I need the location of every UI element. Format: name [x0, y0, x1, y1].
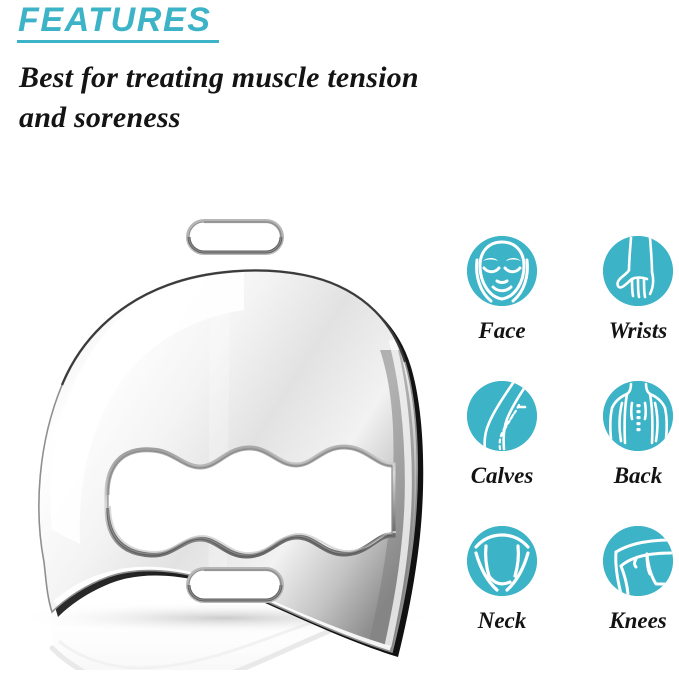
back-icon-wrap — [582, 380, 679, 452]
calf-icon-wrap — [446, 380, 558, 452]
knee-icon-wrap — [582, 525, 679, 597]
icon-cell-knees: Knees — [582, 525, 679, 665]
icon-cell-neck: Neck — [446, 525, 558, 665]
face-icon — [467, 236, 537, 306]
title-underline-divider — [17, 40, 219, 43]
page-title: FEATURES — [18, 1, 212, 39]
subtitle-line-2: and soreness — [19, 98, 559, 138]
features-infographic: FEATURES Best for treating muscle tensio… — [0, 0, 679, 688]
back-icon — [603, 381, 673, 451]
icon-cell-back: Back — [582, 380, 679, 520]
face-icon-wrap — [446, 235, 558, 307]
icon-label-neck: Neck — [446, 608, 558, 634]
header: FEATURES Best for treating muscle tensio… — [0, 0, 679, 150]
icon-label-back: Back — [582, 463, 679, 489]
neck-icon — [467, 526, 537, 596]
icon-label-calves: Calves — [446, 463, 558, 489]
icon-cell-wrists: Wrists — [582, 235, 679, 375]
product-image-gua-sha-tool — [0, 200, 440, 670]
icon-label-wrists: Wrists — [582, 318, 679, 344]
body-area-icon-grid: Face — [440, 205, 679, 655]
icon-cell-calves: Calves — [446, 380, 558, 520]
wrist-icon — [603, 236, 673, 306]
icon-cell-face: Face — [446, 235, 558, 375]
neck-icon-wrap — [446, 525, 558, 597]
icon-label-face: Face — [446, 318, 558, 344]
wrist-icon-wrap — [582, 235, 679, 307]
icon-label-knees: Knees — [582, 608, 679, 634]
knee-icon — [603, 526, 673, 596]
calf-icon — [467, 381, 537, 451]
subtitle-line-1: Best for treating muscle tension — [19, 58, 559, 98]
subtitle: Best for treating muscle tension and sor… — [19, 58, 559, 138]
